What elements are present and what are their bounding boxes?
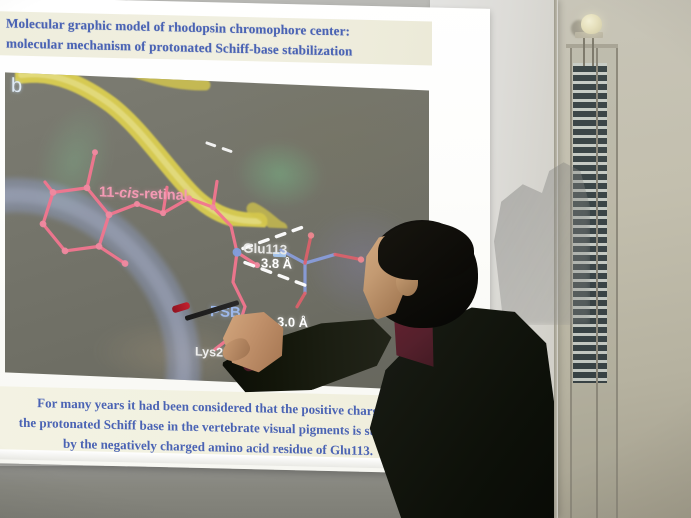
presenter-hair	[378, 222, 474, 280]
wall-lamp-globe	[581, 14, 602, 34]
lamp-stem-right	[592, 36, 594, 66]
panel-letter-b: b	[11, 75, 22, 98]
presenter	[300, 228, 560, 518]
presenter-torso	[358, 294, 554, 518]
lamp-stem-left	[583, 36, 585, 66]
slide-title-band: Molecular graphic model of rhodopsin chr…	[0, 11, 432, 65]
window-mullion	[596, 46, 598, 518]
label-glu113: Glu113	[243, 241, 287, 258]
retinal-suffix: -retinal	[139, 186, 187, 204]
screenshot-root: Molecular graphic model of rhodopsin chr…	[0, 0, 691, 518]
retinal-italic-cis: cis	[119, 185, 139, 202]
retinal-prefix: 11-	[99, 184, 119, 201]
label-distance-3-8-angstrom: 3.8 Å	[261, 255, 292, 271]
